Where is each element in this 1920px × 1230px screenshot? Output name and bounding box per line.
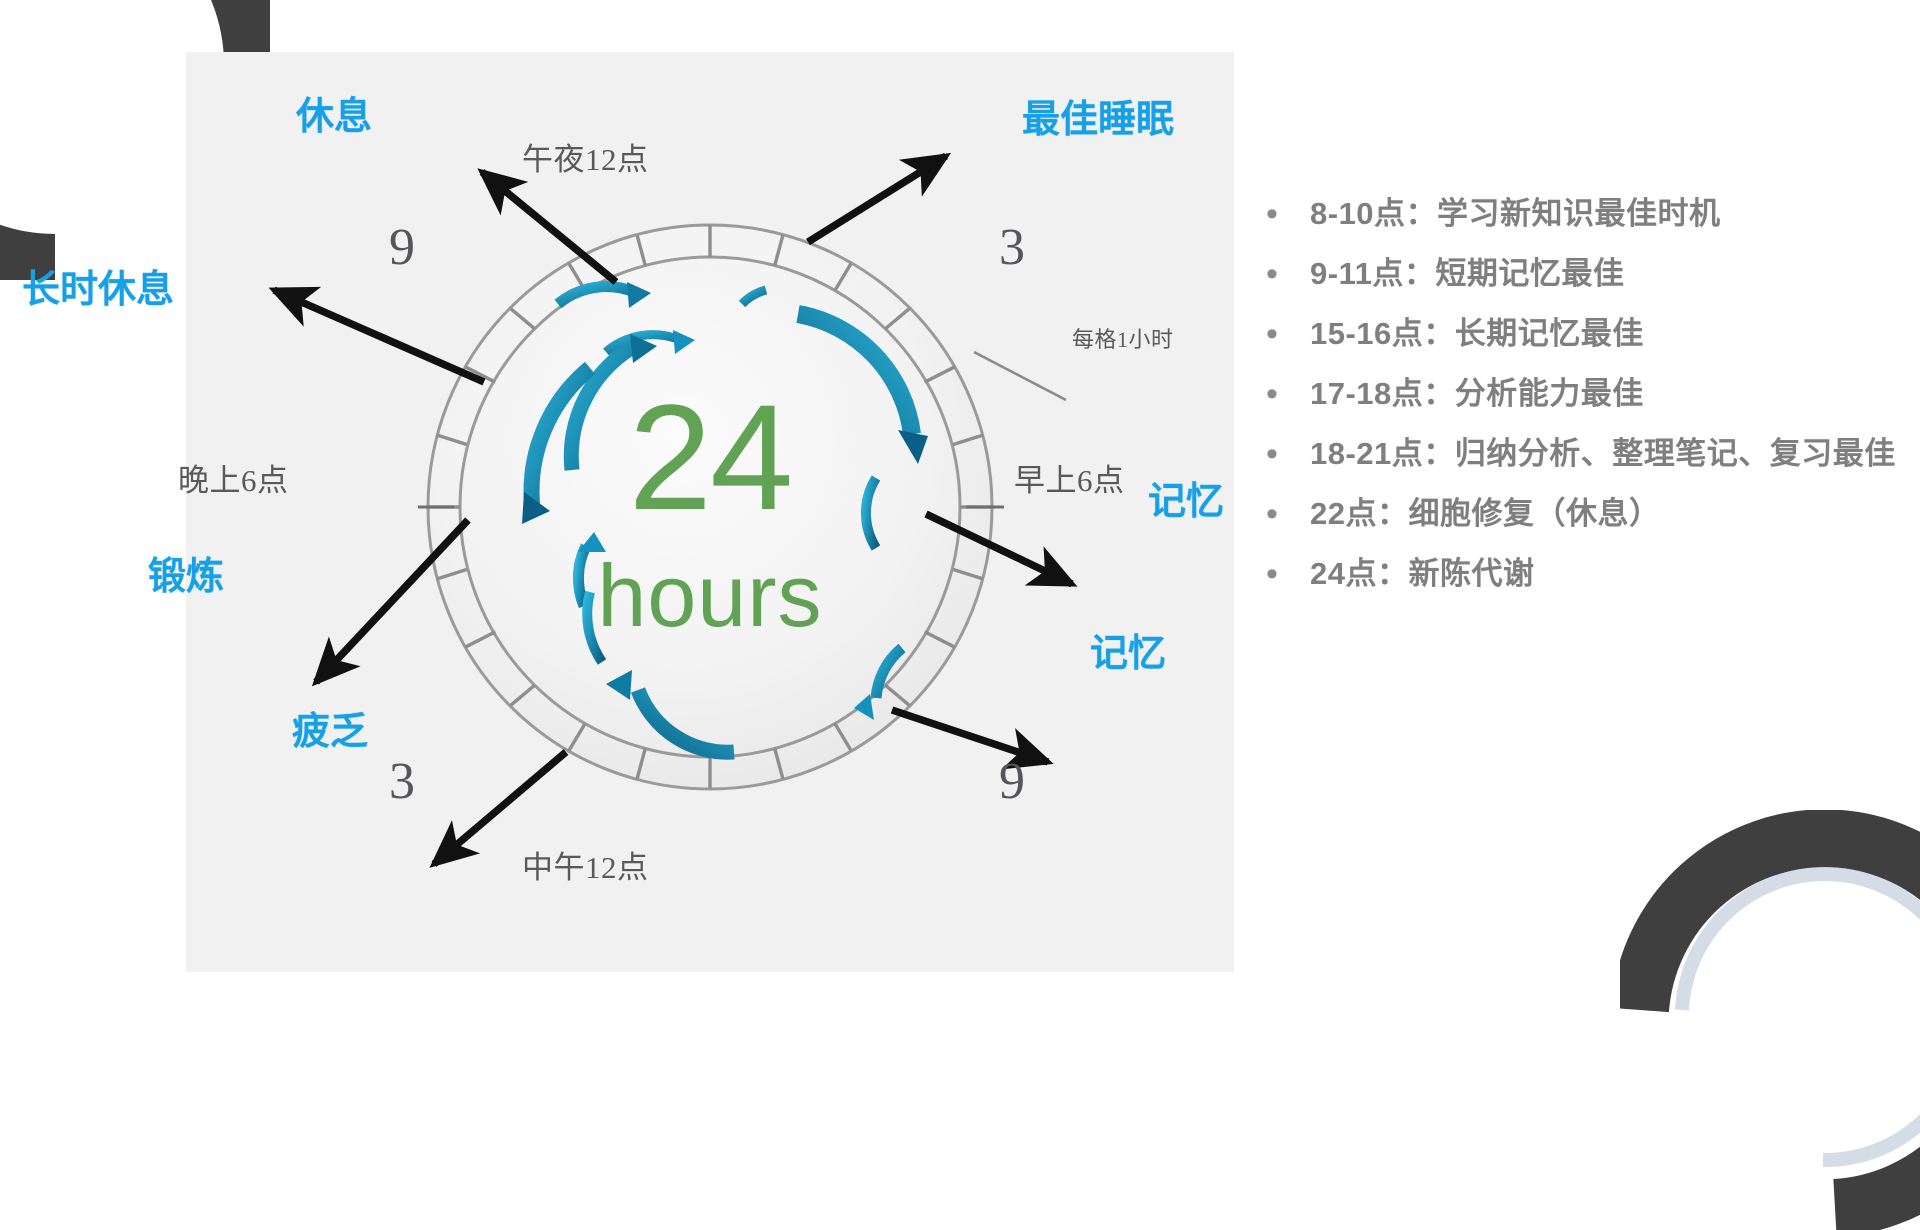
clock-center-unit: hours: [186, 552, 1234, 640]
decorative-arc-bottom-right: [1620, 810, 1920, 1230]
list-item-text: 15-16点：长期记忆最佳: [1310, 306, 1644, 362]
clock-numeral-three-top: 3: [999, 218, 1025, 277]
list-item: • 18-21点：归纳分析、整理笔记、复习最佳: [1266, 426, 1906, 482]
list-item-text: 8-10点：学习新知识最佳时机: [1310, 186, 1721, 242]
list-item: • 8-10点：学习新知识最佳时机: [1266, 186, 1906, 242]
list-item-text: 18-21点：归纳分析、整理笔记、复习最佳: [1310, 426, 1896, 482]
list-item: • 17-18点：分析能力最佳: [1266, 366, 1906, 422]
list-item: • 22点：细胞修复（休息）: [1266, 486, 1906, 542]
list-item-text: 17-18点：分析能力最佳: [1310, 366, 1644, 422]
clock-label-evening-six: 晚上6点: [178, 455, 289, 500]
clock-label-morning-six: 早上6点: [1014, 455, 1125, 500]
clock-label-tick-note: 每格1小时: [1072, 322, 1174, 354]
callout-memory-bottom: 记忆: [1090, 622, 1166, 677]
clock-numeral-nine-bottom: 9: [999, 752, 1025, 811]
callout-fatigue: 疲乏: [292, 700, 368, 755]
list-item-text: 22点：细胞修复（休息）: [1310, 486, 1660, 542]
list-item: • 24点：新陈代谢: [1266, 546, 1906, 602]
clock-numeral-three-bottom: 3: [389, 752, 415, 811]
bullet-marker-icon: •: [1266, 306, 1310, 362]
list-item-text: 24点：新陈代谢: [1310, 546, 1534, 602]
bullet-marker-icon: •: [1266, 546, 1310, 602]
callout-rest: 休息: [296, 85, 372, 140]
callout-exercise: 锻炼: [148, 545, 224, 600]
list-item: • 9-11点：短期记忆最佳: [1266, 246, 1906, 302]
bullet-marker-icon: •: [1266, 246, 1310, 302]
clock-label-midnight: 午夜12点: [522, 134, 649, 179]
list-item: • 15-16点：长期记忆最佳: [1266, 306, 1906, 362]
callout-best-sleep: 最佳睡眠: [1022, 88, 1174, 143]
callout-memory-right: 记忆: [1148, 470, 1224, 525]
bullet-marker-icon: •: [1266, 486, 1310, 542]
bullet-marker-icon: •: [1266, 186, 1310, 242]
list-item-text: 9-11点：短期记忆最佳: [1310, 246, 1624, 302]
time-tips-list: • 8-10点：学习新知识最佳时机 • 9-11点：短期记忆最佳 • 15-16…: [1266, 186, 1906, 606]
callout-long-rest: 长时休息: [22, 258, 174, 313]
bullet-marker-icon: •: [1266, 366, 1310, 422]
clock-diagram-panel: 24 hours 9 3 3 9 午夜12点 早上6点 中午12点 晚上6点 每…: [186, 52, 1234, 972]
clock-numeral-nine-top: 9: [389, 218, 415, 277]
clock-label-noon: 中午12点: [522, 842, 649, 887]
bullet-marker-icon: •: [1266, 426, 1310, 482]
